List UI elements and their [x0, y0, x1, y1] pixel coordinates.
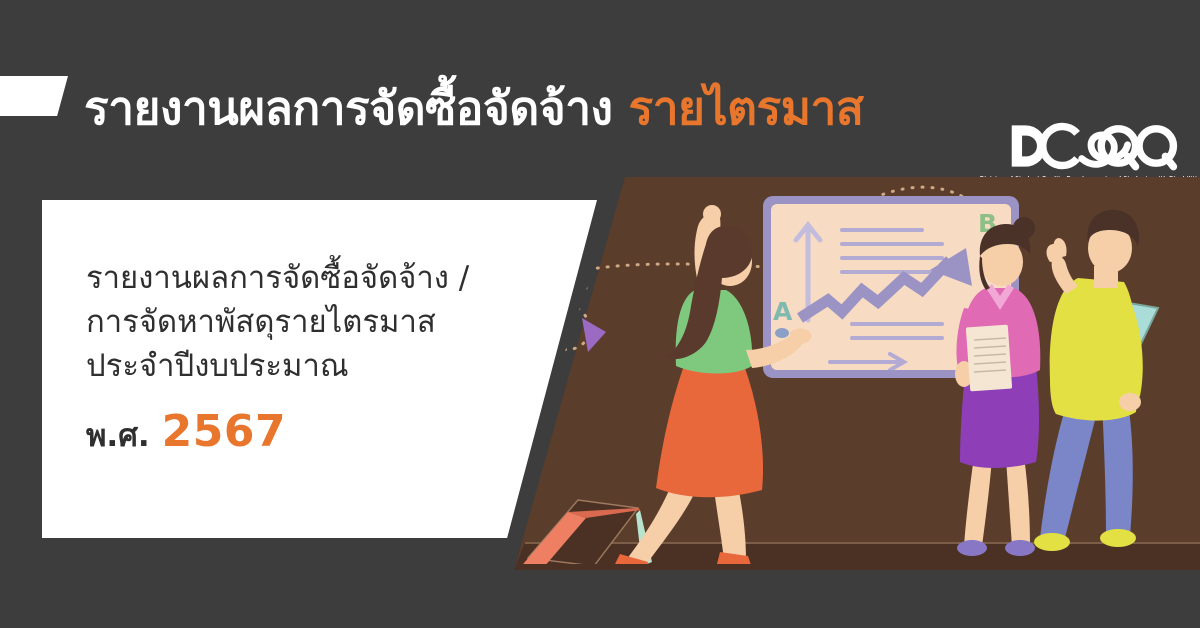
accent-parallelogram — [0, 76, 68, 116]
page-title: รายงานผลการจัดซื้อจัดจ้าง รายไตรมาส — [84, 60, 863, 156]
illustration-svg: A B — [490, 170, 1200, 578]
board-label-a: A — [773, 297, 793, 326]
header: รายงานผลการจัดซื้อจัดจ้าง รายไตรมาส — [0, 60, 1200, 160]
header-title-main: รายงานผลการจัดซื้อจัดจ้าง — [84, 72, 613, 145]
illustration: A B — [490, 170, 1200, 578]
header-title-highlight: รายไตรมาส — [629, 72, 864, 145]
card-line-3: ประจำปีงบประมาณ — [86, 344, 597, 388]
card-line-1: รายงานผลการจัดซื้อจัดจ้าง / — [86, 256, 597, 300]
info-card: รายงานผลการจัดซื้อจัดจ้าง / การจัดหาพัสด… — [42, 200, 597, 538]
card-year-value: 2567 — [162, 406, 286, 457]
card-year-row: พ.ศ. 2567 — [86, 406, 597, 460]
banner-root: รายงานผลการจัดซื้อจัดจ้าง รายไตรมาส — [0, 0, 1200, 628]
card-year-prefix: พ.ศ. — [86, 410, 150, 460]
dcqq-logo-mark — [1006, 118, 1178, 174]
card-line-2: การจัดหาพัสดุรายไตรมาส — [86, 300, 597, 344]
